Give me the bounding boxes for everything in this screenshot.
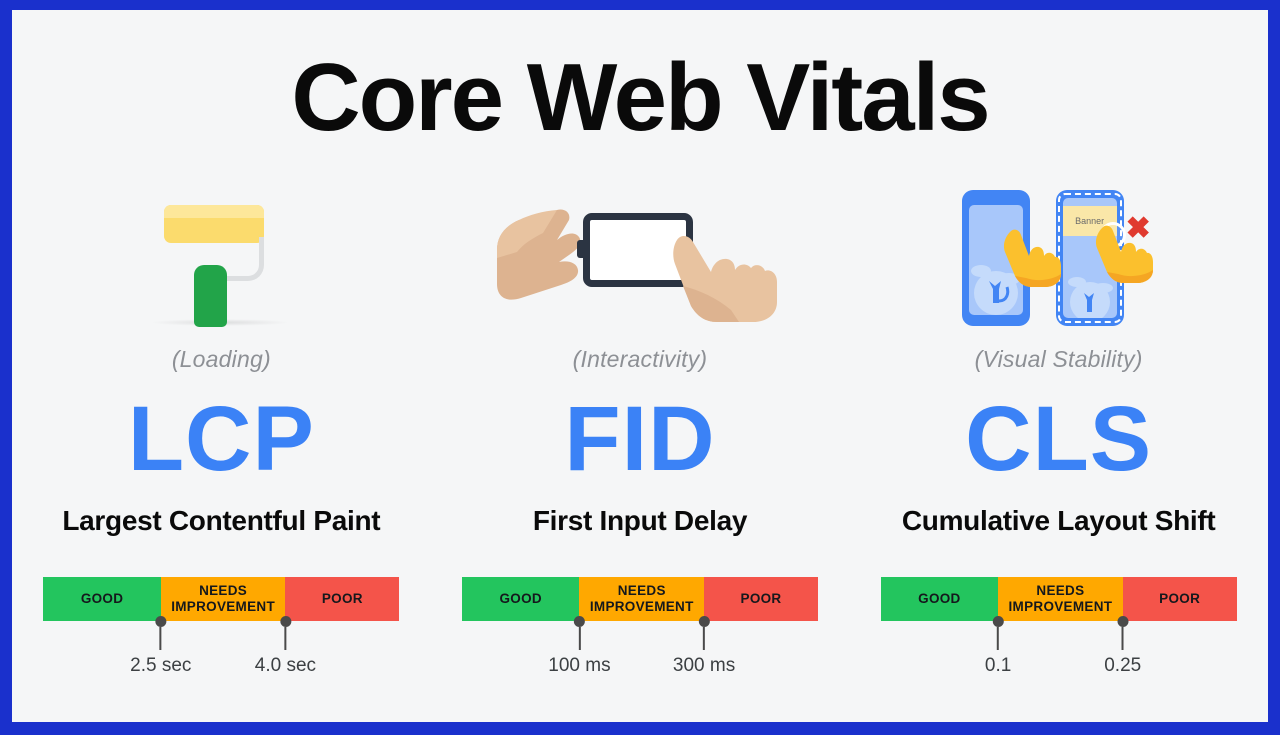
marker-stem-icon <box>284 627 286 650</box>
marker-stem-icon <box>578 627 580 650</box>
threshold-label-good: 2.5 sec <box>130 655 191 677</box>
gauge-bar: GOOD NEEDS IMPROVEMENT POOR <box>881 577 1237 621</box>
gauge-markers: 0.1 0.25 <box>881 621 1237 681</box>
threshold-marker-poor: 0.25 <box>1104 621 1141 677</box>
page-title: Core Web Vitals <box>12 48 1268 149</box>
metric-category-fid: (Interactivity) <box>431 346 850 373</box>
hands-tablet-tap-icon <box>495 192 785 322</box>
threshold-gauge-lcp: GOOD NEEDS IMPROVEMENT POOR 2.5 sec 4.0 … <box>43 577 399 681</box>
gauge-segment-good: GOOD <box>43 577 160 621</box>
phones-layout-shift-icon: Banner ✖ <box>944 182 1174 332</box>
gauge-segment-good: GOOD <box>881 577 998 621</box>
metric-column-cls: Banner ✖ (Visual Stability) <box>849 182 1268 681</box>
pointing-hand-icon <box>1092 222 1154 284</box>
metric-column-fid: (Interactivity) FID First Input Delay GO… <box>431 182 850 681</box>
threshold-label-poor: 300 ms <box>673 655 735 677</box>
paint-roller-icon <box>146 187 296 327</box>
metrics-row: (Loading) LCP Largest Contentful Paint G… <box>12 182 1268 681</box>
layout-shift-illustration: Banner ✖ <box>849 182 1268 332</box>
metric-acronym-lcp: LCP <box>12 393 431 485</box>
metric-category-cls: (Visual Stability) <box>849 346 1268 373</box>
gauge-markers: 2.5 sec 4.0 sec <box>43 621 399 681</box>
marker-dot-icon <box>993 616 1004 627</box>
gauge-bar: GOOD NEEDS IMPROVEMENT POOR <box>43 577 399 621</box>
metric-fullname-fid: First Input Delay <box>431 505 850 537</box>
threshold-gauge-cls: GOOD NEEDS IMPROVEMENT POOR 0.1 0.25 <box>881 577 1237 681</box>
gauge-bar: GOOD NEEDS IMPROVEMENT POOR <box>462 577 818 621</box>
gauge-segment-poor: POOR <box>1123 577 1237 621</box>
threshold-label-poor: 0.25 <box>1104 655 1141 677</box>
tablet-button-icon <box>577 240 584 258</box>
gauge-markers: 100 ms 300 ms <box>462 621 818 681</box>
marker-stem-icon <box>1122 627 1124 650</box>
threshold-marker-poor: 300 ms <box>673 621 735 677</box>
marker-stem-icon <box>997 627 999 650</box>
right-hand-pointing-icon <box>673 230 788 322</box>
gauge-segment-good: GOOD <box>462 577 579 621</box>
hands-tablet-illustration <box>431 182 850 332</box>
marker-dot-icon <box>1117 616 1128 627</box>
threshold-label-poor: 4.0 sec <box>255 655 316 677</box>
pointing-hand-icon <box>1000 226 1062 288</box>
threshold-marker-good: 2.5 sec <box>130 621 191 677</box>
metric-category-lcp: (Loading) <box>12 346 431 373</box>
marker-dot-icon <box>155 616 166 627</box>
threshold-label-good: 100 ms <box>548 655 610 677</box>
metric-column-lcp: (Loading) LCP Largest Contentful Paint G… <box>12 182 431 681</box>
metric-acronym-fid: FID <box>431 393 850 485</box>
roller-handle-icon <box>194 265 227 327</box>
gauge-segment-needs: NEEDS IMPROVEMENT <box>161 577 286 621</box>
metric-fullname-lcp: Largest Contentful Paint <box>12 505 431 537</box>
marker-stem-icon <box>160 627 162 650</box>
paint-roller-illustration <box>12 182 431 332</box>
metric-fullname-cls: Cumulative Layout Shift <box>849 505 1268 537</box>
marker-dot-icon <box>574 616 585 627</box>
metric-acronym-cls: CLS <box>849 393 1268 485</box>
marker-stem-icon <box>703 627 705 650</box>
gauge-segment-poor: POOR <box>704 577 818 621</box>
threshold-marker-good: 100 ms <box>548 621 610 677</box>
gauge-segment-poor: POOR <box>285 577 399 621</box>
gauge-segment-needs: NEEDS IMPROVEMENT <box>579 577 704 621</box>
threshold-gauge-fid: GOOD NEEDS IMPROVEMENT POOR 100 ms 300 m… <box>462 577 818 681</box>
marker-dot-icon <box>280 616 291 627</box>
threshold-marker-poor: 4.0 sec <box>255 621 316 677</box>
threshold-label-good: 0.1 <box>985 655 1011 677</box>
threshold-marker-good: 0.1 <box>985 621 1011 677</box>
gauge-segment-needs: NEEDS IMPROVEMENT <box>998 577 1123 621</box>
poster-canvas: Core Web Vitals (Loading) LCP Largest Co… <box>12 10 1268 722</box>
marker-dot-icon <box>699 616 710 627</box>
